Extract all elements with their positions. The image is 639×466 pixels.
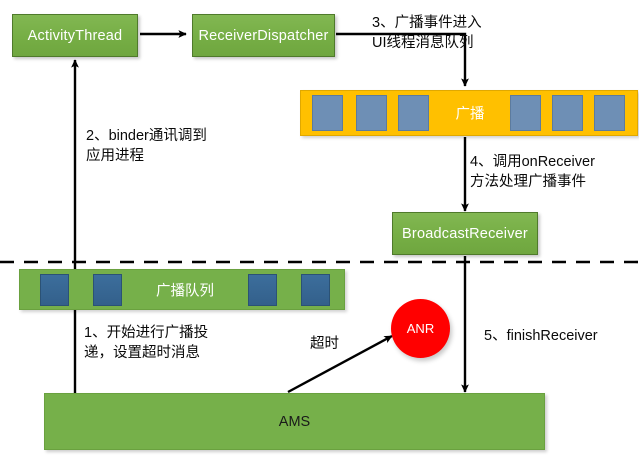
node-receiverdispatcher[interactable]: ReceiverDispatcher <box>192 14 335 57</box>
queue-slot <box>510 95 541 131</box>
queue-slot <box>312 95 343 131</box>
broadcast-queue-slot <box>248 274 277 306</box>
annotation-step-2-line-2: 应用进程 <box>86 146 207 166</box>
annotation-timeout: 超时 <box>310 334 339 354</box>
anr-indicator[interactable]: ANR <box>391 299 450 358</box>
node-broadcastreceiver-label: BroadcastReceiver <box>402 226 528 242</box>
annotation-step-2: 2、binder通讯调到 应用进程 <box>86 126 207 166</box>
annotation-step-3: 3、广播事件进入 UI线程消息队列 <box>372 13 482 53</box>
broadcast-message-queue-label: 广播 <box>456 103 485 124</box>
annotation-step-1-line-1: 1、开始进行广播投 <box>84 323 208 343</box>
annotation-step-3-line-1: 3、广播事件进入 <box>372 13 482 33</box>
queue-slot <box>398 95 429 131</box>
annotation-step-4-line-1: 4、调用onReceiver <box>470 152 595 172</box>
broadcast-queue-label: 广播队列 <box>156 279 214 300</box>
annotation-timeout-label: 超时 <box>310 334 339 354</box>
annotation-step-5-line-1: 5、finishReceiver <box>484 326 598 346</box>
node-activitythread[interactable]: ActivityThread <box>12 14 138 57</box>
annotation-step-1: 1、开始进行广播投 递，设置超时消息 <box>84 323 208 363</box>
anr-label: ANR <box>407 321 434 336</box>
node-broadcastreceiver[interactable]: BroadcastReceiver <box>392 212 538 255</box>
annotation-step-1-line-2: 递，设置超时消息 <box>84 343 208 363</box>
broadcast-message-queue-bar[interactable]: 广播 <box>300 90 638 136</box>
broadcast-queue-slot <box>40 274 69 306</box>
node-receiverdispatcher-label: ReceiverDispatcher <box>198 28 328 44</box>
arrow-ams-to-anr <box>288 336 392 392</box>
annotation-step-5: 5、finishReceiver <box>484 326 598 346</box>
queue-slot <box>594 95 625 131</box>
diagram-canvas: ActivityThread ReceiverDispatcher Broadc… <box>0 0 639 466</box>
broadcast-queue-slot <box>301 274 330 306</box>
annotation-step-4: 4、调用onReceiver 方法处理广播事件 <box>470 152 595 192</box>
node-activitythread-label: ActivityThread <box>28 28 123 44</box>
annotation-step-4-line-2: 方法处理广播事件 <box>470 172 595 192</box>
node-ams[interactable]: AMS <box>44 393 545 450</box>
queue-slot <box>356 95 387 131</box>
annotation-step-3-line-2: UI线程消息队列 <box>372 33 482 53</box>
annotation-step-2-line-1: 2、binder通讯调到 <box>86 126 207 146</box>
queue-slot <box>552 95 583 131</box>
broadcast-queue-bar[interactable]: 广播队列 <box>19 269 345 310</box>
broadcast-queue-slot <box>93 274 122 306</box>
node-ams-label: AMS <box>279 414 310 430</box>
